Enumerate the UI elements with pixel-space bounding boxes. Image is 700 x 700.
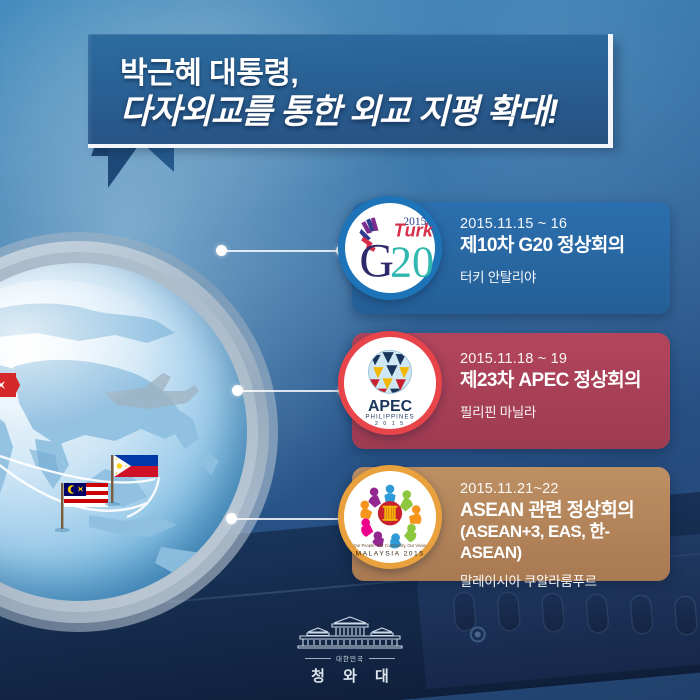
event-title: ASEAN 관련 정상회의 [460,500,658,522]
connector-dot-globe-apec [232,385,243,396]
connector-line-g20 [222,250,346,252]
connector-line-asean [232,518,350,520]
event-place: 터키 안탈리야 [460,266,658,286]
apec-word: APEC [368,398,413,415]
banner-title-line2: 다자외교를 통한 외교 지평 확대! [120,84,558,133]
blue-house-korea-label: 대한민국 [336,653,364,663]
globe-graphic [0,232,278,632]
asean-rice-stalks [385,506,394,520]
asean-malaysia-logo: Our People, Our Community, Our Vision MA… [338,465,442,569]
blue-house-name: 청 와 대 [304,665,396,686]
event-date: 2015.11.18 ~ 19 [460,351,658,367]
event-date: 2015.11.21~22 [460,481,658,497]
event-place: 필리핀 마닐라 [460,401,658,421]
connector-line-apec [238,390,348,392]
blue-house-korea-rule: 대한민국 [305,653,395,663]
globe-sphere [0,263,247,601]
event-place: 말레이시아 쿠알라룸푸르 [460,570,658,590]
g20-letter-g: G [359,235,394,288]
apec-philippines-logo: APEC PHILIPPINES 2 0 1 5 [338,331,442,435]
blue-house-building-icon [294,615,406,651]
asean-country-year: MALAYSIA 2015 [356,550,425,557]
event-title: 제23차 APEC 정상회의 [460,370,658,392]
connector-dot-globe-asean [226,513,237,524]
event-card-asean[interactable]: Our People, Our Community, Our Vision MA… [352,467,670,581]
event-card-g20[interactable]: 2015 Turkey G 20 2015.11.15 ~ 16 제10차 G2… [352,202,670,314]
g20-number-20: 20 [390,238,434,287]
apec-year: 2 0 1 5 [375,421,405,426]
asean-tagline: Our People, Our Community, Our Vision [354,543,428,548]
connector-dot-globe-g20 [216,245,227,256]
turkey-flag-icon [0,367,24,431]
event-card-apec[interactable]: APEC PHILIPPINES 2 0 1 5 2015.11.18 ~ 19… [352,333,670,449]
event-subtitle: (ASEAN+3, EAS, 한-ASEAN) [460,522,658,563]
g20-turkey-logo: 2015 Turkey G 20 [338,196,442,300]
apec-country: PHILIPPINES [365,414,414,421]
infographic-poster: 박근혜 대통령, 다자외교를 통한 외교 지평 확대! [0,0,700,700]
blue-house-footer-logo: 대한민국 청 와 대 [0,615,700,686]
philippines-flag-icon [105,447,167,511]
event-title: 제10차 G20 정상회의 [460,235,658,257]
event-date: 2015.11.15 ~ 16 [460,216,658,232]
title-banner: 박근혜 대통령, 다자외교를 통한 외교 지평 확대! [88,34,613,144]
